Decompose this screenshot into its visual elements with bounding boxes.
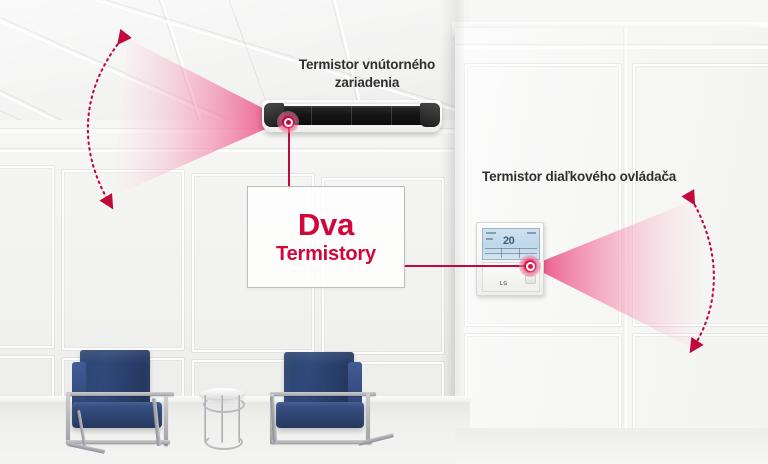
ac-unit-top-trim bbox=[268, 101, 436, 104]
callout-box: Dva Termistory bbox=[247, 186, 405, 288]
sensor-marker-remote bbox=[519, 255, 541, 277]
label-indoor-unit-thermistor: Termistor vnútorného zariadenia bbox=[272, 56, 462, 92]
lg-logo: LG bbox=[500, 281, 508, 287]
sensor-marker-indoor-unit bbox=[277, 111, 299, 133]
ac-unit-end-cap-right bbox=[420, 103, 440, 127]
sensor-marker-ring bbox=[284, 118, 293, 127]
callout-line-2: Termistory bbox=[276, 242, 376, 266]
connector-line-remote bbox=[403, 265, 527, 267]
sensor-marker-ring bbox=[526, 262, 535, 271]
infographic-scene: 20 LG Dva Termistory Termistor vnútornéh… bbox=[0, 0, 768, 464]
label-remote-controller-thermistor: Termistor diaľkového ovládača bbox=[482, 168, 682, 186]
connector-line-indoor-unit bbox=[288, 124, 290, 188]
remote-temperature-value: 20 bbox=[503, 236, 514, 247]
callout-line-1: Dva bbox=[298, 208, 354, 241]
